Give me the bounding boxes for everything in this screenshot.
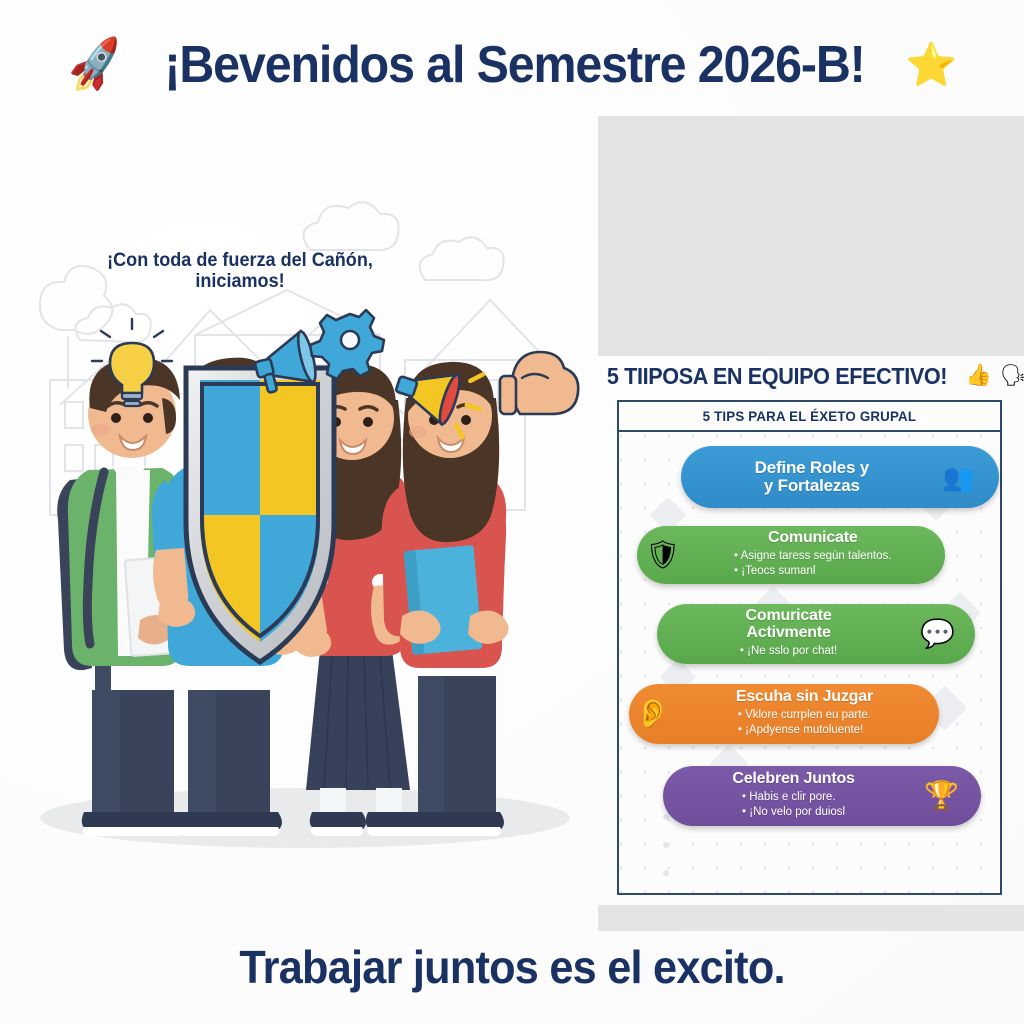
tip-card-body: Celebren Juntos Habis e clir pore. ¡No v… bbox=[663, 767, 924, 824]
image-placeholder-bottom bbox=[598, 905, 1024, 931]
poster-canvas: 🚀 ¡Bevenidos al Semestre 2026-B! ⭐ bbox=[0, 0, 1024, 1024]
tip-card-body: Comunicate Asigne taress según talentos.… bbox=[681, 526, 945, 583]
chat-phone-glyph: 💬 bbox=[920, 620, 955, 648]
tip-card-title: Comuricate Activmente bbox=[746, 608, 832, 642]
caption-text: Trabajar juntos es el excito. bbox=[239, 940, 784, 994]
tip-card-title: Escuha sin Juzgar bbox=[736, 689, 873, 706]
tip-bullet: ¡Teocs sumanl bbox=[734, 564, 891, 579]
trophy-glyph: 🏆 bbox=[924, 782, 959, 810]
tip-card-body: Comuricate Activmente ¡Ne sslo por chat! bbox=[657, 604, 920, 663]
tip-card-title: Comunicate bbox=[768, 530, 858, 547]
tip-title-line2: y Fortalezas bbox=[755, 477, 869, 495]
ear-glyph: 👂 bbox=[635, 700, 670, 728]
two-people-icon: 👥 bbox=[943, 464, 999, 490]
tip-card-bullets: ¡Ne sslo por chat! bbox=[740, 644, 837, 659]
star-icon: ⭐ bbox=[905, 44, 957, 86]
panel-subtitle: 5 TIPS PARA EL ÉXETO GRUPAL bbox=[619, 402, 1000, 432]
shield-glyph: 🛡 bbox=[645, 541, 681, 569]
speaking-head-icon: 🗣 bbox=[1000, 364, 1024, 388]
title-text: ¡Bevenidos al Semestre 2026-B! bbox=[164, 35, 864, 95]
poster-title: 🚀 ¡Bevenidos al Semestre 2026-B! ⭐ bbox=[0, 20, 1024, 110]
tip-title-line1: Comuricate bbox=[746, 608, 832, 625]
ear-lightbulb-icon: 👂 bbox=[629, 700, 670, 728]
tip-bullet: Asigne taress según talentos. bbox=[734, 549, 891, 564]
tip-bullet: Vklore currplen eu parte. bbox=[738, 708, 871, 723]
tip-card-escucha-sin-juzgar[interactable]: 👂 Escuha sin Juzgar Vklore currplen eu p… bbox=[629, 684, 939, 744]
tip-title-line2: Activmente bbox=[746, 625, 832, 642]
tip-bullet: ¡Ne sslo por chat! bbox=[740, 644, 837, 659]
two-people-glyph: 👥 bbox=[943, 464, 973, 490]
rocket-icon: 🚀 bbox=[63, 37, 127, 92]
flexed-bicep-icon bbox=[500, 352, 578, 414]
trophy-icon: 🏆 bbox=[924, 782, 981, 810]
tip-card-bullets: Vklore currplen eu parte. ¡Apdyense muto… bbox=[738, 708, 871, 738]
tip-card-define-roles[interactable]: Define Roles y y Fortalezas 👥 bbox=[681, 446, 999, 508]
tip-card-celebren-juntos[interactable]: Celebren Juntos Habis e clir pore. ¡No v… bbox=[663, 766, 981, 826]
tip-bullet: ¡No velo por duiosl bbox=[742, 805, 845, 820]
tip-bullet: ¡Apdyense mutoluente! bbox=[738, 723, 871, 738]
thumbs-up-icon: 👍 bbox=[966, 364, 992, 388]
tips-heading-text: 5 TIIPOSA EN EQUIPO EFECTIVO! bbox=[606, 363, 946, 390]
tip-title-line1: Define Roles y bbox=[755, 459, 869, 477]
tip-bullet: Habis e clir pore. bbox=[742, 790, 845, 805]
tip-card-comunicate[interactable]: 🛡 Comunicate Asigne taress según talento… bbox=[637, 526, 945, 584]
image-placeholder-top bbox=[598, 116, 1024, 356]
illustration-headline: ¡Con toda de fuerza del Cañón, iniciamos… bbox=[102, 250, 378, 293]
poster-caption: Trabajar juntos es el excito. bbox=[0, 932, 1024, 1002]
panel-subtitle-text: 5 TIPS PARA EL ÉXETO GRUPAL bbox=[703, 408, 917, 424]
tips-panel: 5 TIPS PARA EL ÉXETO GRUPAL Define Roles… bbox=[617, 400, 1002, 895]
tip-card-bullets: Asigne taress según talentos. ¡Teocs sum… bbox=[734, 549, 891, 579]
tip-card-title: Define Roles y y Fortalezas bbox=[755, 459, 869, 495]
tip-card-title: Celebren Juntos bbox=[732, 771, 854, 788]
tip-card-comunicate-activamente[interactable]: Comuricate Activmente ¡Ne sslo por chat!… bbox=[657, 604, 975, 664]
tip-card-body: Define Roles y y Fortalezas bbox=[681, 455, 943, 499]
shield-icon: 🛡 bbox=[637, 541, 681, 569]
tip-card-body: Escuha sin Juzgar Vklore currplen eu par… bbox=[670, 685, 939, 742]
tips-card-list: Define Roles y y Fortalezas 👥 🛡 Comunica… bbox=[619, 436, 1004, 894]
tips-heading: 5 TIIPOSA EN EQUIPO EFECTIVO! 👍 🗣 bbox=[598, 358, 1024, 394]
chat-phone-icon: 💬 bbox=[920, 620, 975, 648]
students-illustration bbox=[20, 130, 595, 890]
tip-card-bullets: Habis e clir pore. ¡No velo por duiosl bbox=[742, 790, 845, 820]
